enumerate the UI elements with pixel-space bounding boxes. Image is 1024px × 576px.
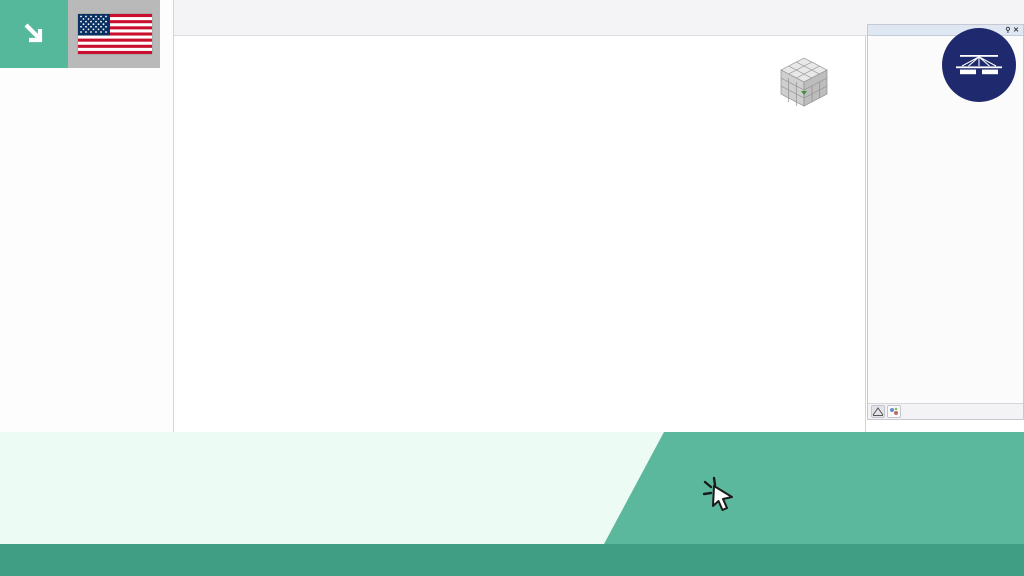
model-viewport[interactable] bbox=[174, 36, 866, 432]
moment-diagram-3d[interactable] bbox=[174, 36, 866, 432]
view-cube[interactable] bbox=[771, 50, 837, 116]
banner-teal-panel bbox=[604, 432, 1024, 544]
corner-teal-block bbox=[0, 0, 68, 68]
click-cursor-icon bbox=[700, 472, 746, 518]
dlubal-bridge-icon bbox=[956, 54, 1002, 76]
control-panel-footer[interactable] bbox=[868, 403, 1023, 419]
us-flag-icon bbox=[78, 14, 152, 54]
arrow-down-right-icon bbox=[19, 19, 49, 49]
application-screenshot: ⚲ ✕ bbox=[0, 0, 1024, 432]
settings-icon[interactable] bbox=[887, 405, 901, 418]
pin-icon[interactable]: ⚲ bbox=[1004, 26, 1012, 34]
dlubal-logo bbox=[942, 28, 1016, 102]
close-icon[interactable]: ✕ bbox=[1012, 26, 1020, 34]
screenshot-root: ⚲ ✕ bbox=[0, 0, 1024, 576]
banner-bottom-bar bbox=[0, 544, 1024, 576]
webinar-banner bbox=[0, 432, 1024, 576]
toolbar-row-1[interactable] bbox=[174, 0, 1024, 18]
home-view-icon[interactable] bbox=[871, 405, 885, 418]
